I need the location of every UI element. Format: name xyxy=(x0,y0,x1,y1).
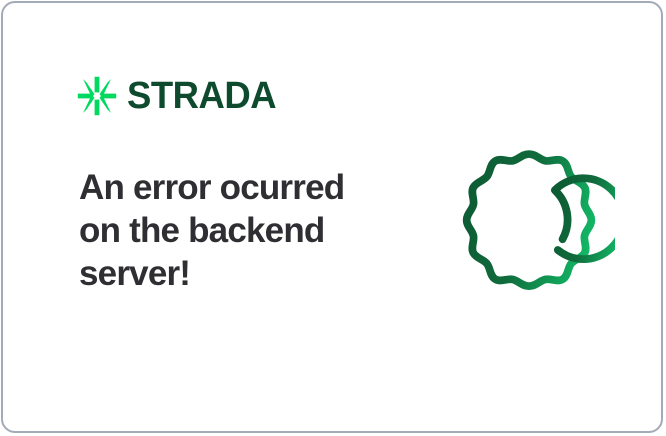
error-headline: An error ocurred on the backend server! xyxy=(79,166,379,295)
brand-lockup: STRADA xyxy=(77,71,282,121)
error-card: STRADA An error ocurred on the backend s… xyxy=(1,1,663,433)
gear-icon xyxy=(443,136,615,308)
gear-illustration xyxy=(443,136,615,308)
strada-asterisk-icon xyxy=(77,76,117,116)
brand-wordmark: STRADA xyxy=(127,77,276,115)
